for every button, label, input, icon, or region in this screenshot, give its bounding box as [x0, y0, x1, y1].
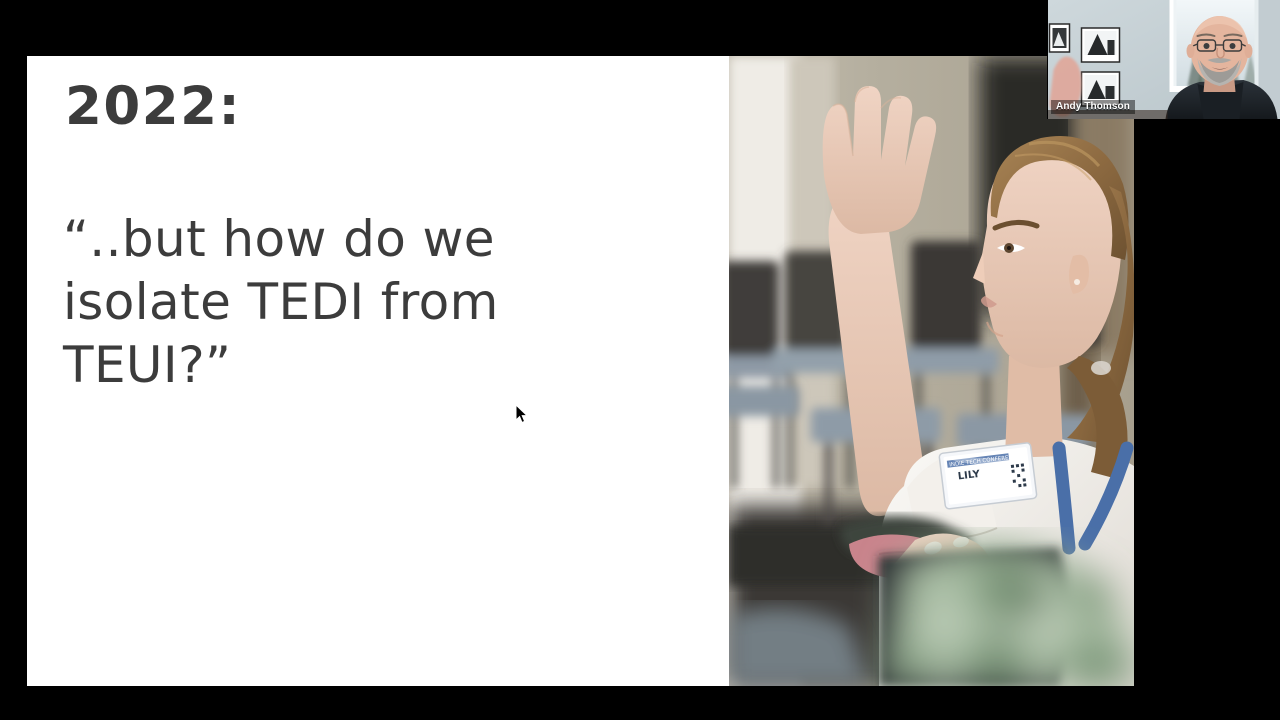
- slide-quote-line-1: “..but how do we: [63, 208, 683, 271]
- slide-text-column: 2022: “..but how do we isolate TEDI from…: [27, 56, 729, 686]
- slide-photo: INDIE TECH CONFERENCE LILY: [729, 56, 1134, 686]
- slide-quote-line-3: TEUI?”: [63, 334, 683, 397]
- slide-quote-line-2: isolate TEDI from: [63, 271, 683, 334]
- webcam-pip-tile[interactable]: Andy Thomson: [1047, 0, 1280, 119]
- slide-quote: “..but how do we isolate TEDI from TEUI?…: [63, 208, 683, 397]
- conference-photo-illustration: INDIE TECH CONFERENCE LILY: [729, 56, 1134, 686]
- presentation-slide: 2022: “..but how do we isolate TEDI from…: [27, 56, 1134, 686]
- screen-share-stage: 2022: “..but how do we isolate TEDI from…: [0, 0, 1280, 720]
- slide-year-heading: 2022:: [65, 80, 241, 133]
- participant-name-label: Andy Thomson: [1051, 100, 1135, 114]
